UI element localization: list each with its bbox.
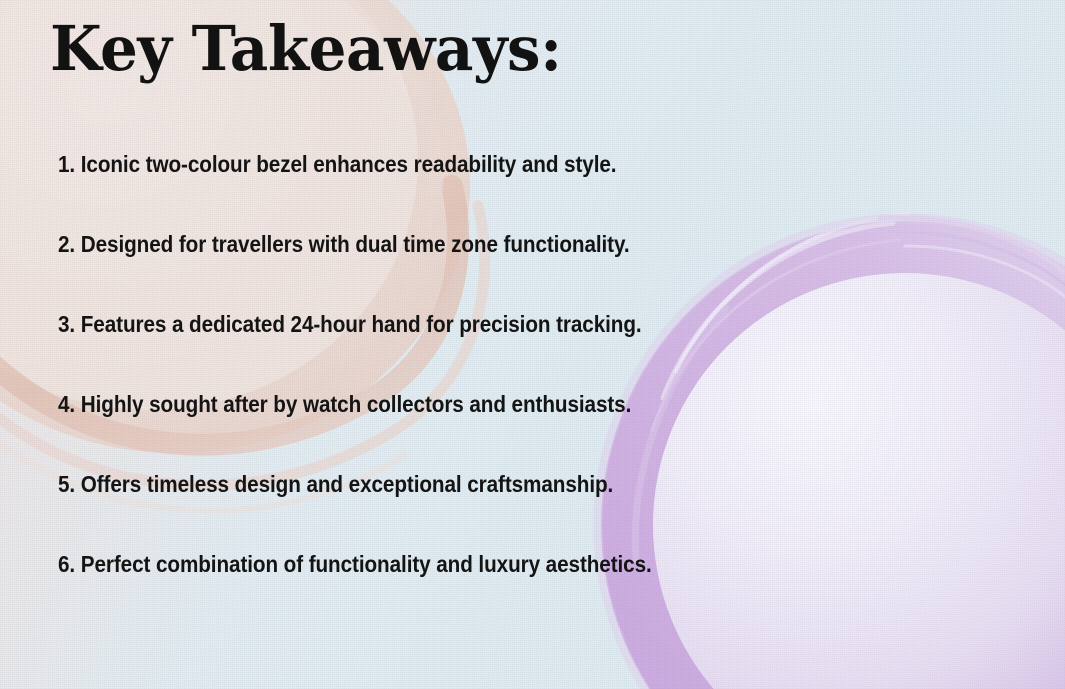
page-title: Key Takeaways: xyxy=(50,16,562,81)
key-takeaways-graphic: Key Takeaways: 1. Iconic two-colour beze… xyxy=(0,0,1065,689)
takeaway-item-1: 1. Iconic two-colour bezel enhances read… xyxy=(58,152,922,232)
takeaway-list: 1. Iconic two-colour bezel enhances read… xyxy=(58,152,1018,632)
takeaway-item-2: 2. Designed for travellers with dual tim… xyxy=(58,232,922,312)
takeaway-item-6: 6. Perfect combination of functionality … xyxy=(58,552,922,632)
content-layer: Key Takeaways: 1. Iconic two-colour beze… xyxy=(0,0,1065,689)
takeaway-item-4: 4. Highly sought after by watch collecto… xyxy=(58,392,922,472)
takeaway-item-5: 5. Offers timeless design and exceptiona… xyxy=(58,472,922,552)
takeaway-item-3: 3. Features a dedicated 24-hour hand for… xyxy=(58,312,922,392)
